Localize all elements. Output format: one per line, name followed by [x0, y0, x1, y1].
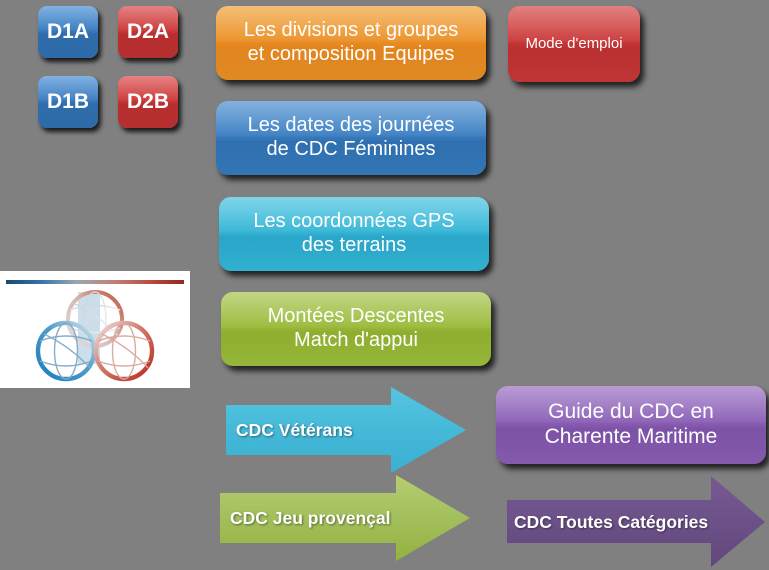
button-guide-cdc-line1: Guide du CDC en	[548, 400, 714, 423]
arrow-cdc-toutes-categories[interactable]: CDC Toutes Catégories	[502, 469, 769, 569]
button-divisions-groupes-line1: Les divisions et groupes	[244, 19, 459, 41]
button-coordonnees-gps[interactable]: Les coordonnées GPSdes terrains	[219, 197, 489, 271]
arrow-cdc-toutes-categories-label: CDC Toutes Catégories	[514, 512, 708, 533]
arrow-cdc-jeu-provencal[interactable]: CDC Jeu provençal	[216, 473, 490, 563]
button-divisions-groupes-line2: et composition Equipes	[248, 43, 455, 65]
button-montees-descentes-line2: Match d'appui	[294, 329, 418, 351]
button-coordonnees-gps-label: Les coordonnées GPSdes terrains	[245, 210, 462, 257]
button-guide-cdc-line2: Charente Maritime	[545, 425, 718, 448]
button-dates-journees[interactable]: Les dates des journéesde CDC Féminines	[216, 101, 486, 175]
button-mode-emploi[interactable]: Mode d'emploi	[508, 6, 640, 82]
arrow-cdc-veterans-label: CDC Vétérans	[236, 420, 353, 441]
button-d1b-label: D1B	[39, 90, 97, 115]
button-divisions-groupes-label: Les divisions et groupeset composition E…	[236, 19, 467, 66]
button-d1b[interactable]: D1B	[38, 76, 98, 128]
button-montees-descentes[interactable]: Montées DescentesMatch d'appui	[221, 292, 491, 366]
button-montees-descentes-line1: Montées Descentes	[268, 305, 445, 327]
button-montees-descentes-label: Montées DescentesMatch d'appui	[260, 305, 453, 352]
button-dates-journees-line1: Les dates des journées	[248, 114, 455, 136]
button-d1a-label: D1A	[39, 20, 97, 45]
button-d2b[interactable]: D2B	[118, 76, 178, 128]
button-d1a[interactable]: D1A	[38, 6, 98, 58]
button-guide-cdc-label: Guide du CDC enCharente Maritime	[537, 400, 726, 450]
petanque-three-boules-logo	[0, 271, 190, 388]
button-coordonnees-gps-line1: Les coordonnées GPS	[253, 210, 454, 232]
button-d2a[interactable]: D2A	[118, 6, 178, 58]
button-divisions-groupes[interactable]: Les divisions et groupeset composition E…	[216, 6, 486, 80]
button-coordonnees-gps-line2: des terrains	[302, 234, 407, 256]
logo-card	[0, 271, 190, 388]
arrow-cdc-jeu-provencal-label: CDC Jeu provençal	[230, 508, 390, 529]
slide-canvas: D1A D2A D1B D2B Les divisions et groupes…	[0, 0, 769, 570]
button-guide-cdc[interactable]: Guide du CDC enCharente Maritime	[496, 386, 766, 464]
button-dates-journees-line2: de CDC Féminines	[267, 138, 436, 160]
button-d2b-label: D2B	[119, 90, 177, 115]
button-mode-emploi-label: Mode d'emploi	[517, 35, 630, 53]
button-d2a-label: D2A	[119, 20, 177, 45]
arrow-cdc-veterans[interactable]: CDC Vétérans	[222, 386, 482, 474]
button-dates-journees-label: Les dates des journéesde CDC Féminines	[240, 114, 463, 161]
